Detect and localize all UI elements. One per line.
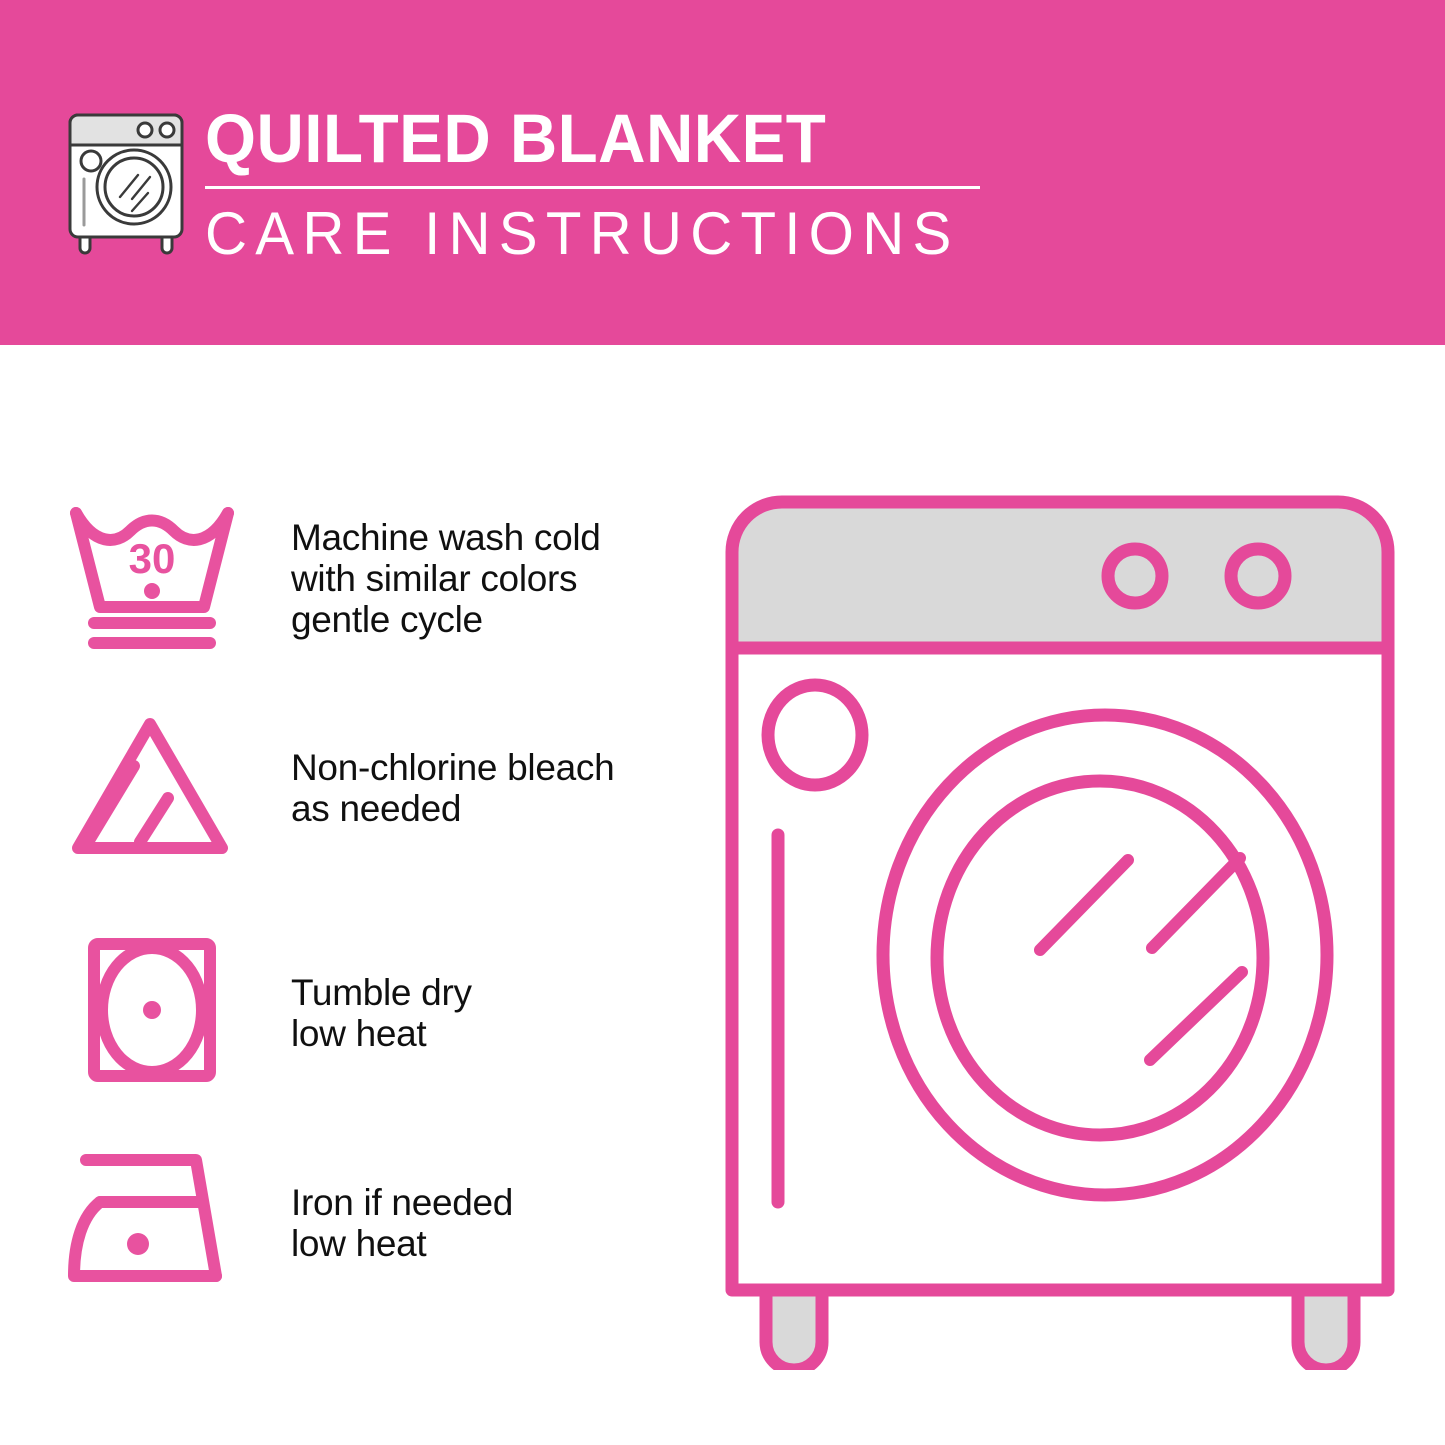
care-line: Non-chlorine bleach: [291, 747, 691, 788]
care-text-iron: Iron if needed low heat: [291, 1182, 691, 1264]
care-text-tumble-dry: Tumble dry low heat: [291, 972, 691, 1054]
bleach-triangle-non-chlorine-icon: [64, 710, 240, 870]
care-line: low heat: [291, 1223, 691, 1264]
header-band: QUILTED BLANKET CARE INSTRUCTIONS: [0, 0, 1445, 345]
machine-leg-left: [766, 1290, 822, 1370]
door-inner-ring: [937, 781, 1263, 1135]
care-instructions-list: 30 Machine wash cold with similar colors…: [0, 345, 700, 1445]
care-text-machine-wash: Machine wash cold with similar colors ge…: [291, 517, 691, 640]
care-line: Machine wash cold: [291, 517, 691, 558]
header-text-block: QUILTED BLANKET CARE INSTRUCTIONS: [205, 100, 995, 267]
care-line: Iron if needed: [291, 1182, 691, 1223]
washing-machine-illustration: [710, 480, 1410, 1370]
machine-leg-right: [1298, 1290, 1354, 1370]
header-divider: [205, 186, 980, 189]
tumble-dry-low-heat-icon: [64, 930, 240, 1090]
care-line: as needed: [291, 788, 691, 829]
indicator-light: [768, 685, 862, 785]
svg-text:30: 30: [129, 535, 176, 582]
door-reflections: [1040, 858, 1242, 1060]
care-instructions-page: QUILTED BLANKET CARE INSTRUCTIONS: [0, 0, 1445, 1445]
care-text-bleach: Non-chlorine bleach as needed: [291, 747, 691, 829]
page-subtitle: CARE INSTRUCTIONS: [205, 201, 971, 267]
care-line: low heat: [291, 1013, 691, 1054]
care-line: gentle cycle: [291, 599, 691, 640]
washing-machine-icon: [62, 103, 190, 255]
page-title: QUILTED BLANKET: [205, 100, 956, 178]
wash-tub-30-gentle-icon: 30: [64, 495, 240, 655]
iron-low-heat-icon: [64, 1140, 240, 1300]
care-line: with similar colors: [291, 558, 691, 599]
care-line: Tumble dry: [291, 972, 691, 1013]
